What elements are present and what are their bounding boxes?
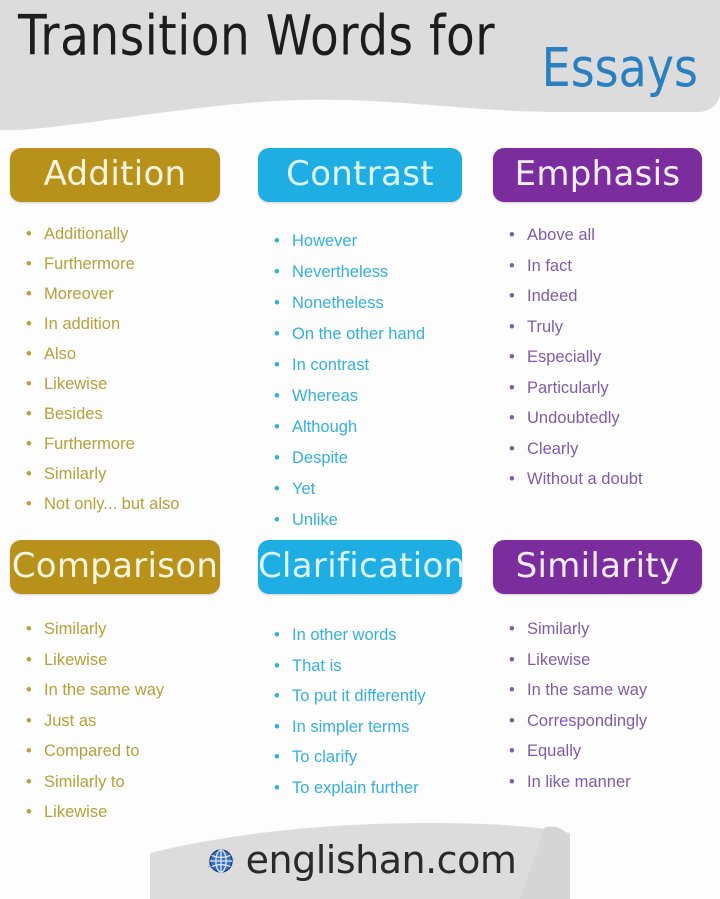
list-item: •Without a doubt [493,464,720,495]
category-heading-clarification: Clarification [258,540,462,594]
bullet-icon: • [274,350,280,381]
bullet-icon: • [274,226,280,257]
bullet-icon: • [274,681,280,712]
bullet-icon: • [26,309,32,339]
list-item: •Truly [493,312,720,343]
word-label: Nevertheless [292,263,388,281]
bullet-icon: • [26,736,32,767]
bullet-icon: • [509,281,515,312]
list-item: •In the same way [10,675,250,706]
bullet-icon: • [26,429,32,459]
list-item: •Similarly [493,614,720,645]
bullet-icon: • [509,767,515,798]
bullet-icon: • [26,706,32,737]
bullet-icon: • [274,474,280,505]
bullet-icon: • [509,675,515,706]
bullet-icon: • [274,742,280,773]
word-list-similarity: •Similarly •Likewise •In the same way •C… [493,614,720,797]
list-item: •Just as [10,706,250,737]
list-item: •Similarly [10,459,250,489]
list-item: •Furthermore [10,429,250,459]
word-label: Particularly [527,379,609,397]
list-item: •In the same way [493,675,720,706]
bullet-icon: • [26,645,32,676]
list-item: •Also [10,339,250,369]
list-item: •Likewise [10,369,250,399]
word-label: Furthermore [44,435,135,453]
list-item: •Whereas [258,381,493,412]
category-card-comparison: Comparison •Similarly •Likewise •In the … [0,540,250,828]
word-label: Similarly [44,620,106,638]
word-label: In contrast [292,356,369,374]
bullet-icon: • [509,342,515,373]
bullet-icon: • [26,339,32,369]
word-label: Compared to [44,742,139,760]
category-row-2: Comparison •Similarly •Likewise •In the … [0,540,720,828]
category-card-clarification: Clarification •In other words •That is •… [250,540,493,828]
word-label: Yet [292,480,315,498]
bullet-icon: • [274,505,280,536]
word-label: In simpler terms [292,718,409,736]
word-label: Unlike [292,511,338,529]
bullet-icon: • [509,434,515,465]
word-label: Just as [44,712,96,730]
word-label: Despite [292,449,348,467]
list-item: •In fact [493,251,720,282]
bullet-icon: • [26,219,32,249]
word-label: In addition [44,315,120,333]
bullet-icon: • [274,412,280,443]
word-label: Although [292,418,357,436]
bullet-icon: • [509,645,515,676]
list-item: •In simpler terms [258,712,493,743]
list-item: •In other words [258,620,493,651]
bullet-icon: • [274,288,280,319]
word-label: That is [292,657,342,675]
list-item: •Similarly to [10,767,250,798]
list-item: •To explain further [258,773,493,804]
bullet-icon: • [509,464,515,495]
word-label: Indeed [527,287,577,305]
category-card-addition: Addition •Additionally •Furthermore •Mor… [0,148,250,540]
word-label: In other words [292,626,397,644]
category-heading-addition: Addition [10,148,220,202]
word-label: To explain further [292,779,419,797]
list-item: •Nonetheless [258,288,493,319]
list-item: •Likewise [10,645,250,676]
list-item: •Correspondingly [493,706,720,737]
list-item: •Besides [10,399,250,429]
bullet-icon: • [509,373,515,404]
word-label: Undoubtedly [527,409,620,427]
bullet-icon: • [509,312,515,343]
bullet-icon: • [26,489,32,519]
category-row-1: Addition •Additionally •Furthermore •Mor… [0,148,720,540]
globe-icon [204,844,238,878]
list-item: •That is [258,651,493,682]
word-label: Moreover [44,285,114,303]
word-label: In fact [527,257,572,275]
list-item: •Similarly [10,614,250,645]
list-item: •On the other hand [258,319,493,350]
bullet-icon: • [509,736,515,767]
bullet-icon: • [509,403,515,434]
list-item: •Equally [493,736,720,767]
category-heading-similarity: Similarity [493,540,702,594]
bullet-icon: • [26,399,32,429]
bullet-icon: • [274,381,280,412]
word-label: Similarly [44,465,106,483]
word-label: Likewise [44,651,107,669]
bullet-icon: • [274,712,280,743]
bullet-icon: • [509,220,515,251]
word-label: Additionally [44,225,128,243]
word-list-comparison: •Similarly •Likewise •In the same way •J… [10,614,250,828]
list-item: •Above all [493,220,720,251]
page-title: Transition Words for [18,4,495,69]
word-label: In like manner [527,773,631,791]
word-label: Correspondingly [527,712,647,730]
word-label: In the same way [44,681,164,699]
word-label: Also [44,345,76,363]
word-label: Truly [527,318,563,336]
list-item: •Furthermore [10,249,250,279]
list-item: •Especially [493,342,720,373]
word-label: Besides [44,405,103,423]
category-grid: Addition •Additionally •Furthermore •Mor… [0,148,720,828]
list-item: •Clearly [493,434,720,465]
list-item: •Yet [258,474,493,505]
word-label: Similarly to [44,773,125,791]
bullet-icon: • [26,675,32,706]
category-card-contrast: Contrast •However •Nevertheless •Nonethe… [250,148,493,540]
list-item: •In addition [10,309,250,339]
list-item: •Indeed [493,281,720,312]
word-label: To clarify [292,748,357,766]
word-label: Likewise [44,375,107,393]
word-list-addition: •Additionally •Furthermore •Moreover •In… [10,219,250,519]
category-heading-contrast: Contrast [258,148,462,202]
bullet-icon: • [509,251,515,282]
list-item: •Not only... but also [10,489,250,519]
bullet-icon: • [26,459,32,489]
list-item: •Particularly [493,373,720,404]
word-label: In the same way [527,681,647,699]
bullet-icon: • [509,614,515,645]
word-list-clarification: •In other words •That is •To put it diff… [258,620,493,803]
list-item: •Moreover [10,279,250,309]
bullet-icon: • [274,443,280,474]
word-label: On the other hand [292,325,425,343]
list-item: •To put it differently [258,681,493,712]
word-label: Furthermore [44,255,135,273]
word-label: Clearly [527,440,578,458]
bullet-icon: • [26,249,32,279]
category-heading-emphasis: Emphasis [493,148,702,202]
word-label: Above all [527,226,595,244]
word-label: Equally [527,742,581,760]
word-label: Not only... but also [44,495,179,513]
bullet-icon: • [274,651,280,682]
list-item: •However [258,226,493,257]
list-item: •Unlike [258,505,493,536]
list-item: •In like manner [493,767,720,798]
bullet-icon: • [26,279,32,309]
bullet-icon: • [26,369,32,399]
word-label: Especially [527,348,601,366]
site-name[interactable]: englishan.com [246,838,517,882]
list-item: •Compared to [10,736,250,767]
word-label: Likewise [527,651,590,669]
bullet-icon: • [274,620,280,651]
bullet-icon: • [26,614,32,645]
list-item: •Although [258,412,493,443]
page-title-accent: Essays [542,36,698,99]
word-label: Nonetheless [292,294,384,312]
bullet-icon: • [274,319,280,350]
bullet-icon: • [274,773,280,804]
page-footer: englishan.com [0,817,720,899]
category-heading-comparison: Comparison [10,540,220,594]
word-label: However [292,232,357,250]
word-label: To put it differently [292,687,426,705]
word-label: Whereas [292,387,358,405]
word-list-emphasis: •Above all •In fact •Indeed •Truly •Espe… [493,220,720,495]
list-item: •Nevertheless [258,257,493,288]
list-item: •Undoubtedly [493,403,720,434]
bullet-icon: • [509,706,515,737]
word-list-contrast: •However •Nevertheless •Nonetheless •On … [258,226,493,536]
category-card-emphasis: Emphasis •Above all •In fact •Indeed •Tr… [493,148,720,540]
word-label: Without a doubt [527,470,643,488]
list-item: •To clarify [258,742,493,773]
bullet-icon: • [274,257,280,288]
list-item: •Despite [258,443,493,474]
word-label: Similarly [527,620,589,638]
page-header: Transition Words for Essays [0,0,720,150]
bullet-icon: • [26,767,32,798]
category-card-similarity: Similarity •Similarly •Likewise •In the … [493,540,720,828]
list-item: •In contrast [258,350,493,381]
list-item: •Likewise [493,645,720,676]
list-item: •Additionally [10,219,250,249]
